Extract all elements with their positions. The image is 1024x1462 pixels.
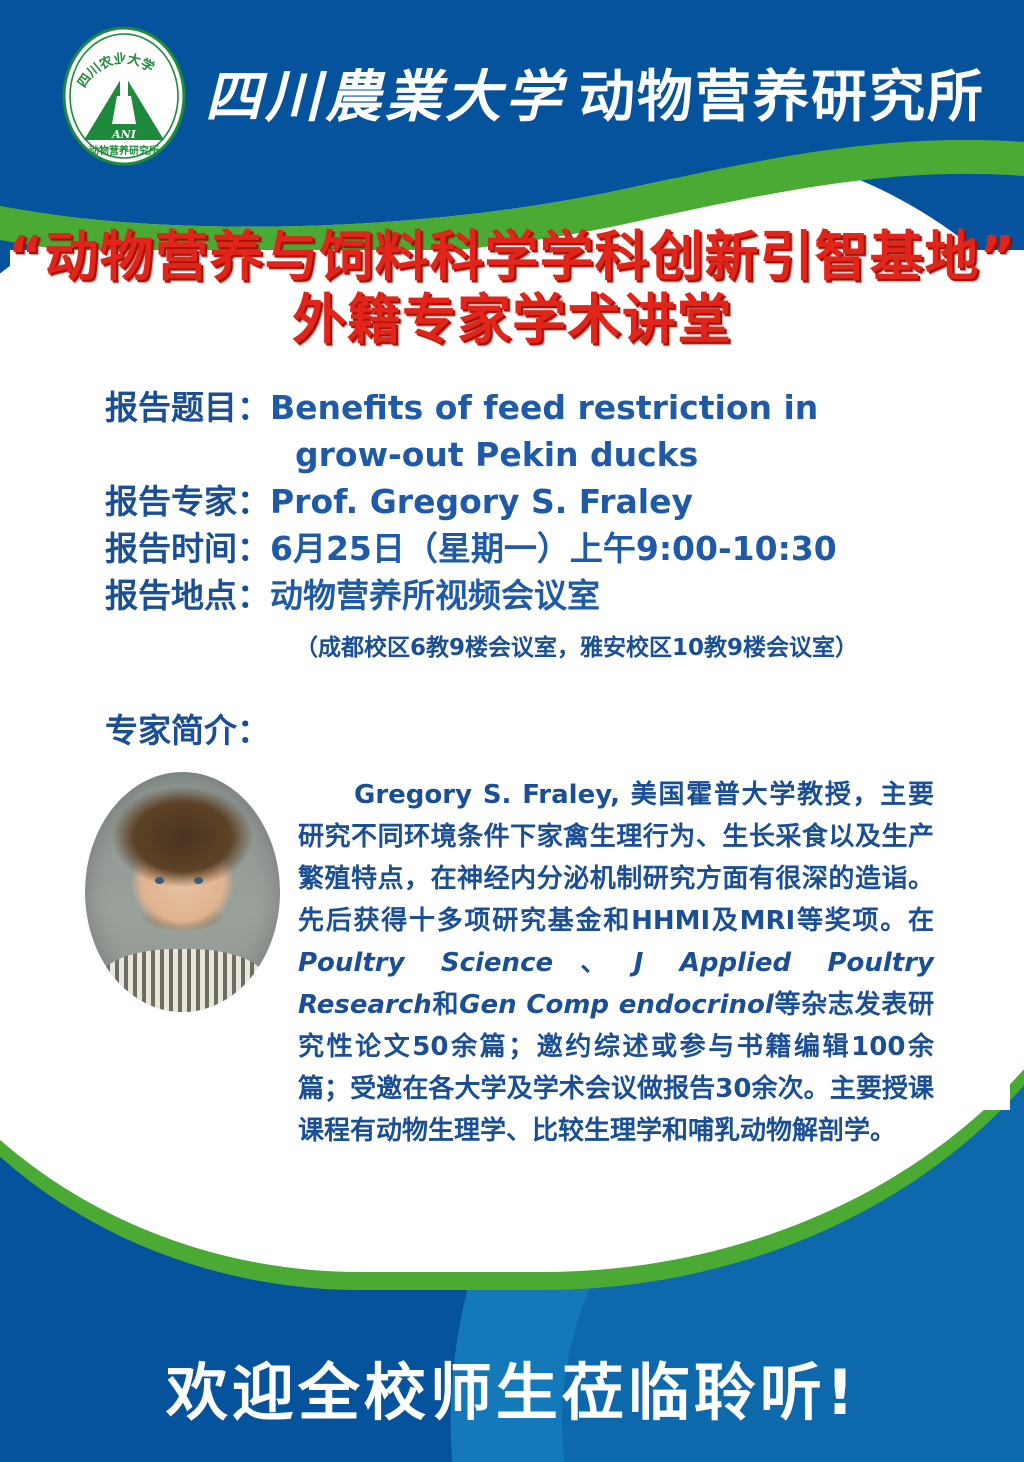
topic-value-line1: Benefits of feed restriction in xyxy=(270,388,818,427)
speaker-label: 报告专家： xyxy=(105,482,270,521)
journal-name-3: Gen Comp endocrinol xyxy=(459,990,774,1020)
photo-eye-right xyxy=(194,877,203,884)
bio-section: Gregory S. Fraley, 美国霍普大学教授，主要研究不同环境条件下家… xyxy=(0,758,1024,1188)
info-row-topic: 报告题目：Benefits of feed restriction in xyxy=(105,385,1024,432)
university-logo: 四川农业大学 ANI 动物营养研究所 xyxy=(60,26,188,166)
header-title: 四川農業大学动物营养研究所 xyxy=(205,52,985,133)
photo-eye-left xyxy=(155,877,164,884)
venue-note: （成都校区6教9楼会议室，雅安校区10教9楼会议室） xyxy=(295,628,1024,662)
bio-paragraph: Gregory S. Fraley, 美国霍普大学教授，主要研究不同环境条件下家… xyxy=(298,774,934,1153)
main-title-line1: “动物营养与饲料科学学科创新引智基地” xyxy=(0,226,1024,289)
journal-name-1: Poultry Science xyxy=(298,948,553,978)
logo-bottom-text: 动物营养研究所 xyxy=(89,144,159,157)
venue-value: 动物营养所视频会议室 xyxy=(270,576,600,615)
speaker-value: Prof. Gregory S. Fraley xyxy=(270,482,693,521)
bio-separator-1: 、 xyxy=(553,948,634,978)
bio-text-part2: 和 xyxy=(432,990,459,1020)
time-label: 报告时间： xyxy=(105,529,270,568)
poster-main-title: “动物营养与饲料科学学科创新引智基地” 外籍专家学术讲堂 xyxy=(0,226,1024,351)
bio-heading: 专家简介： xyxy=(105,704,1024,752)
logo-monogram: ANI xyxy=(111,128,137,141)
time-value: 6月25日（星期一）上午9:00-10:30 xyxy=(270,529,837,568)
info-row-time: 报告时间：6月25日（星期一）上午9:00-10:30 xyxy=(105,526,1024,573)
topic-value-line2: grow-out Pekin ducks xyxy=(295,435,698,474)
content-area: “动物营养与饲料科学学科创新引智基地” 外籍专家学术讲堂 报告题目：Benefi… xyxy=(0,178,1024,1188)
venue-label: 报告地点： xyxy=(105,576,270,615)
event-info-block: 报告题目：Benefits of feed restriction in gro… xyxy=(105,385,1024,661)
university-name: 四川農業大学 xyxy=(205,65,565,130)
info-row-topic-cont: grow-out Pekin ducks xyxy=(295,432,1024,479)
speaker-photo xyxy=(85,772,280,1012)
photo-shirt xyxy=(101,949,265,1011)
footer-welcome-text: 欢迎全校师生莅临聆听! xyxy=(0,1342,1024,1432)
main-title-line2: 外籍专家学术讲堂 xyxy=(0,289,1024,352)
info-row-venue: 报告地点：动物营养所视频会议室 xyxy=(105,573,1024,620)
institute-name: 动物营养研究所 xyxy=(579,65,985,130)
topic-label: 报告题目： xyxy=(105,388,270,427)
info-row-speaker: 报告专家：Prof. Gregory S. Fraley xyxy=(105,479,1024,526)
poster-root: 四川农业大学 ANI 动物营养研究所 四川農業大学动物营养研究所 “动物营养与饲… xyxy=(0,0,1024,1462)
bio-text-part1: Gregory S. Fraley, 美国霍普大学教授，主要研究不同环境条件下家… xyxy=(298,780,934,936)
